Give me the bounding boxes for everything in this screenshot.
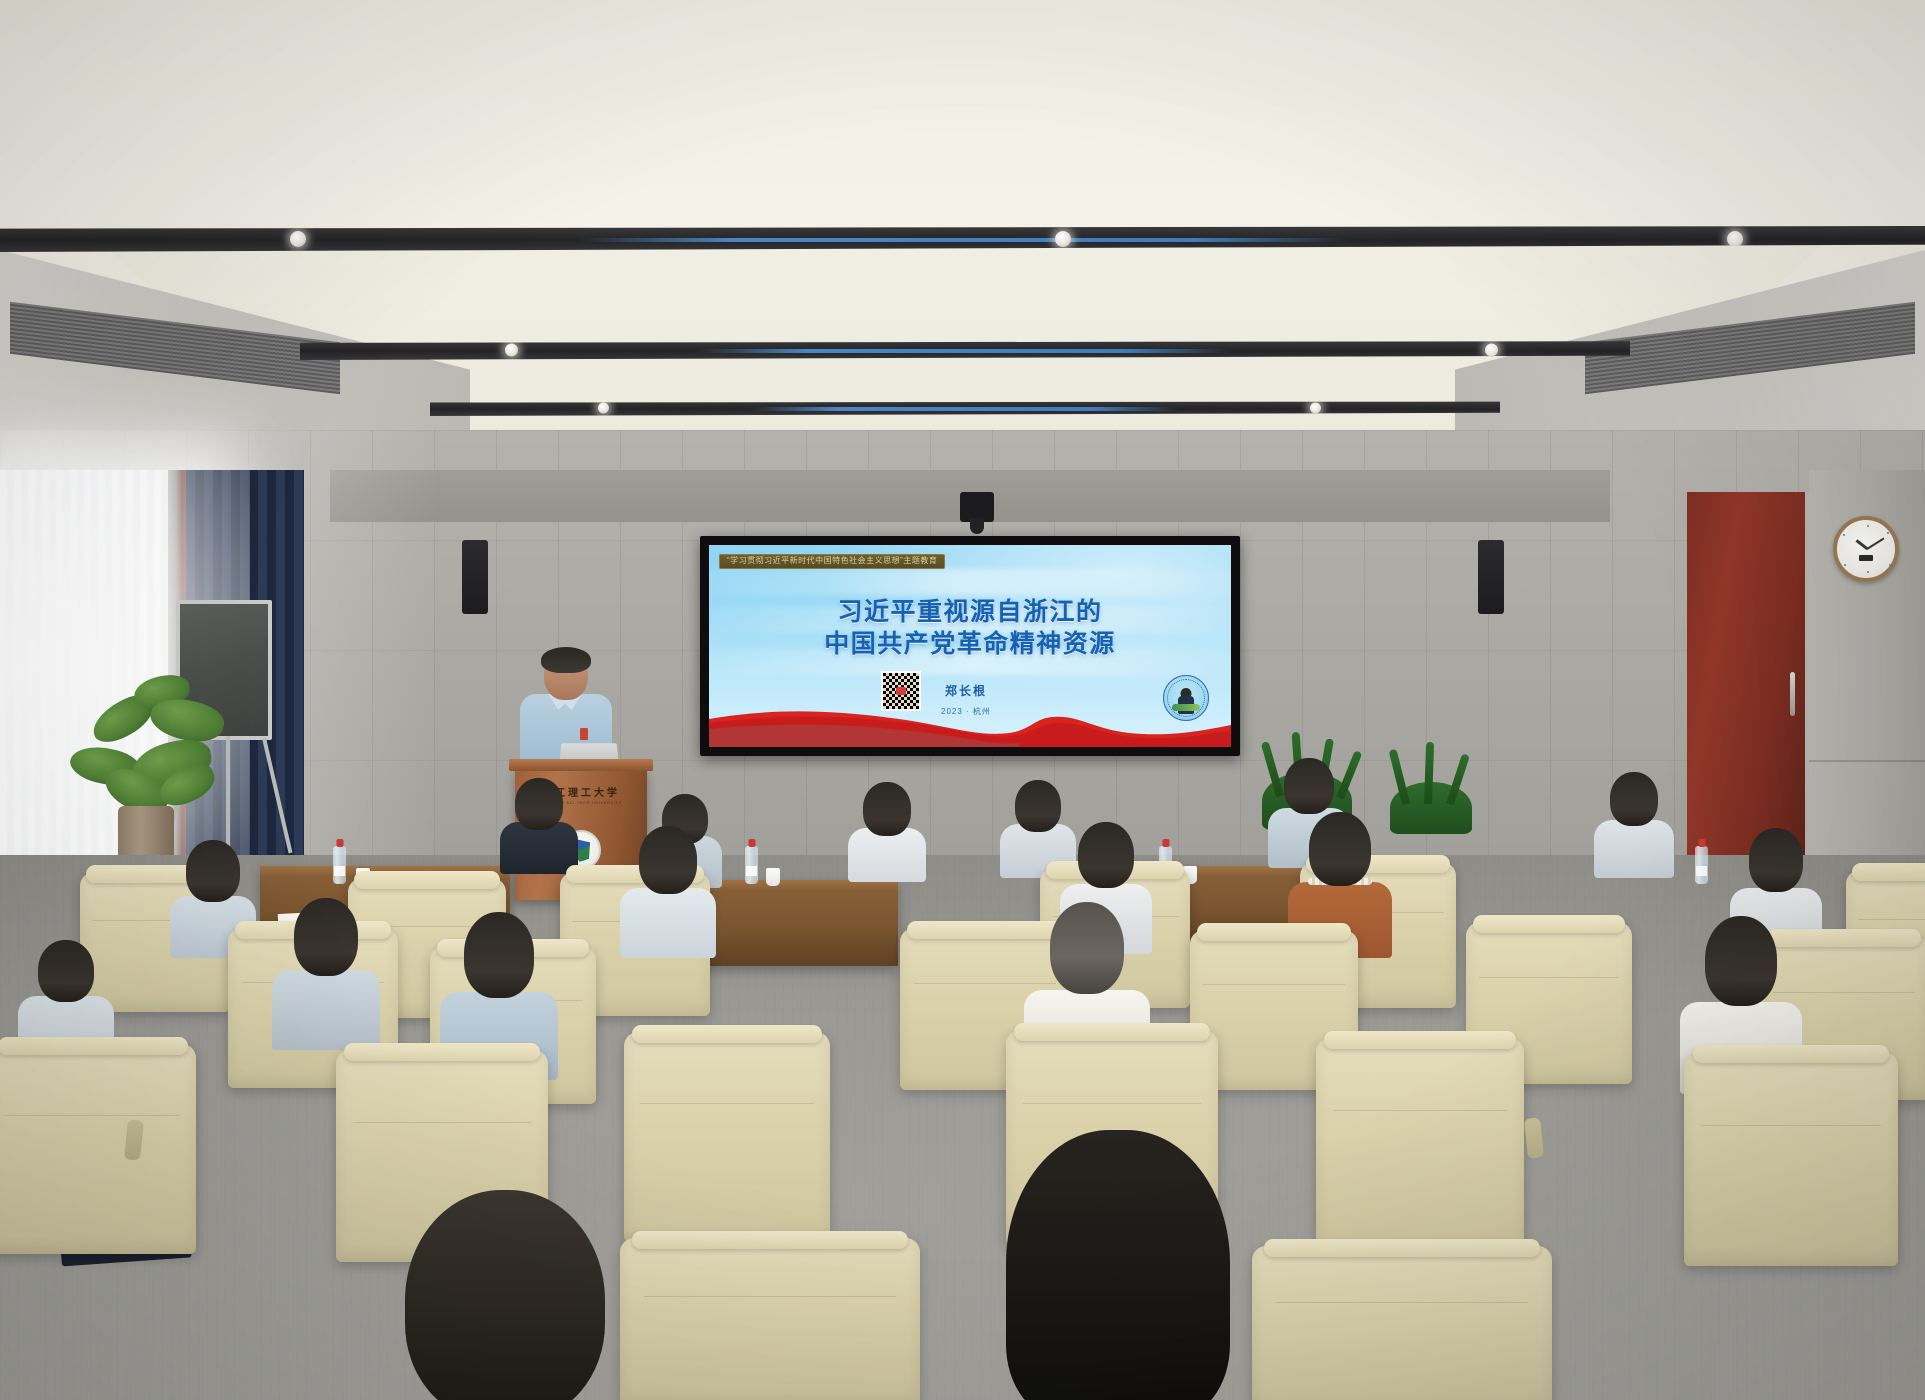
attendee xyxy=(848,778,926,870)
ceiling-light-strip xyxy=(578,238,1348,242)
attendee-head xyxy=(1749,828,1803,892)
audience-chair[interactable] xyxy=(1316,1038,1524,1250)
audience-chair[interactable] xyxy=(1252,1246,1552,1400)
attendee-head xyxy=(1705,916,1777,1006)
ceiling-light-strip xyxy=(699,349,1231,353)
audience-chair[interactable] xyxy=(1684,1052,1898,1266)
attendee-head xyxy=(1309,812,1371,886)
attendee-head xyxy=(186,840,240,902)
attendee xyxy=(272,898,380,1038)
clock-brand-mark xyxy=(1859,555,1873,561)
paper-cup xyxy=(766,868,780,886)
attendee-head xyxy=(1610,772,1658,826)
slide-date-location: 2023 · 杭州 xyxy=(941,706,991,717)
meeting-room-door[interactable] xyxy=(1687,492,1809,860)
water-bottle xyxy=(1695,846,1708,884)
ceiling-projector xyxy=(960,492,994,522)
wall-mounted-speaker xyxy=(462,540,488,614)
attendee-torso xyxy=(1594,820,1674,878)
ceiling-spotlight xyxy=(1310,403,1321,414)
attendee-head xyxy=(294,898,358,976)
attendee-head xyxy=(639,826,697,894)
audience-chair[interactable] xyxy=(620,1238,920,1400)
presenter-hair xyxy=(541,647,591,673)
attendee-torso xyxy=(848,828,926,882)
attendee-torso xyxy=(620,888,716,958)
ceiling-spotlight xyxy=(290,231,306,247)
attendee-head xyxy=(1078,822,1134,888)
attendee xyxy=(1594,770,1674,866)
attendee-head xyxy=(863,782,911,836)
attendee xyxy=(500,772,578,864)
attendee-head xyxy=(515,778,563,830)
qr-center-logo xyxy=(896,687,906,695)
wall-clock xyxy=(1833,516,1899,582)
attendee-long-hair-front xyxy=(1000,1130,1236,1400)
attendee-head xyxy=(1015,780,1061,832)
podium-top-surface xyxy=(509,759,653,771)
ceiling-spotlight xyxy=(598,403,609,414)
ceiling-spotlight xyxy=(1055,231,1071,247)
audience-chair[interactable] xyxy=(0,1044,196,1254)
presenter-badge xyxy=(580,728,588,740)
circular-emblem xyxy=(1163,675,1209,721)
ceiling-light-strip xyxy=(751,407,1179,411)
slide-title-line-2: 中国共产党革命精神资源 xyxy=(709,629,1231,661)
water-bottle xyxy=(333,846,346,884)
slide-title-line-1: 习近平重视源自浙江的 xyxy=(709,597,1231,629)
ceiling-spotlight xyxy=(1485,344,1498,357)
slide-title: 习近平重视源自浙江的 中国共产党革命精神资源 xyxy=(709,597,1231,660)
slide-theme-banner: “学习贯彻习近平新时代中国特色社会主义思想”主题教育 xyxy=(719,554,945,569)
attendee-head xyxy=(1006,1130,1230,1400)
clock-minute-hand xyxy=(1866,538,1884,550)
audience-chair[interactable] xyxy=(624,1032,830,1242)
led-display-screen[interactable]: “学习贯彻习近平新时代中国特色社会主义思想”主题教育 习近平重视源自浙江的 中国… xyxy=(700,536,1240,756)
ceiling-spotlight xyxy=(505,344,518,357)
slide-wave-highlight xyxy=(709,569,1231,595)
wall-mounted-speaker xyxy=(1478,540,1504,614)
ceiling-spotlight xyxy=(1727,231,1743,247)
emblem-base-graphic xyxy=(1172,704,1200,711)
attendee xyxy=(400,1190,610,1400)
qr-code[interactable] xyxy=(881,671,921,711)
attendee-torso xyxy=(272,970,380,1050)
clock-hour-hand xyxy=(1856,539,1869,550)
wall-panel-seam xyxy=(1809,760,1925,762)
attendee-head xyxy=(1284,758,1334,814)
attendee-head xyxy=(1050,902,1124,994)
attendee-head xyxy=(464,912,534,998)
attendee-head xyxy=(405,1190,605,1400)
lecture-hall-photo: “学习贯彻习近平新时代中国特色社会主义思想”主题教育 习近平重视源自浙江的 中国… xyxy=(0,0,1925,1400)
water-bottle xyxy=(745,846,758,884)
door-handle[interactable] xyxy=(1790,672,1795,716)
slide-speaker-name: 郑长根 xyxy=(945,682,987,699)
attendee xyxy=(620,826,716,950)
slide-surface: “学习贯彻习近平新时代中国特色社会主义思想”主题教育 习近平重视源自浙江的 中国… xyxy=(709,545,1231,747)
attendee-head xyxy=(38,940,94,1002)
